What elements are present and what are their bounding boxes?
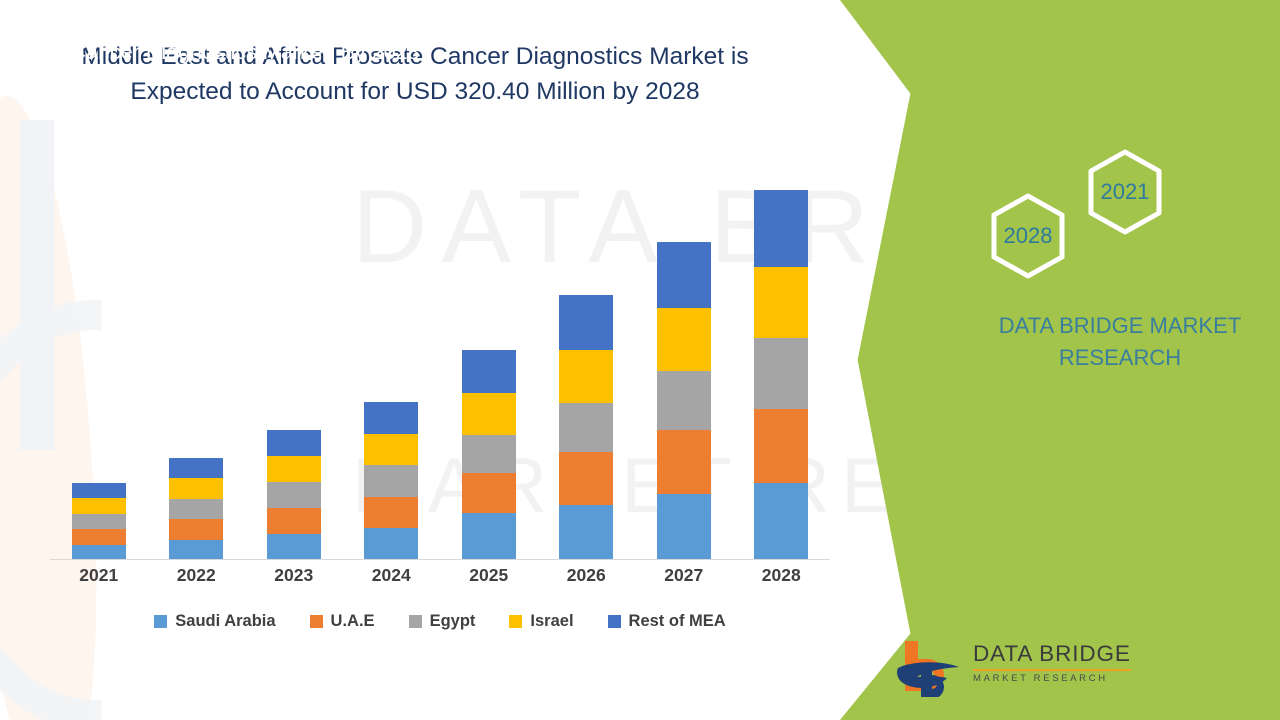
bar-segment xyxy=(754,483,808,560)
bar-segment xyxy=(462,350,516,393)
legend-item[interactable]: Israel xyxy=(509,612,573,631)
legend-label: Israel xyxy=(530,612,573,631)
bar-segment xyxy=(267,456,321,482)
bar-segment xyxy=(754,190,808,267)
bar-segment xyxy=(559,350,613,403)
brand-name-text: DATA BRIDGE MARKET RESEARCH xyxy=(965,310,1275,374)
legend-item[interactable]: Egypt xyxy=(409,612,476,631)
legend-swatch-icon xyxy=(608,615,621,628)
x-axis-label: 2022 xyxy=(154,565,238,586)
bar-segment xyxy=(267,482,321,508)
legend-item[interactable]: Saudi Arabia xyxy=(154,612,275,631)
stacked-bar xyxy=(169,458,223,560)
bar-segment xyxy=(559,295,613,350)
data-bridge-logo: DATA BRIDGE MARKET RESEARCH xyxy=(895,635,1125,697)
legend-label: Rest of MEA xyxy=(629,612,726,631)
legend-swatch-icon xyxy=(310,615,323,628)
bar-segment xyxy=(462,435,516,473)
bar-column xyxy=(349,175,433,560)
stacked-bar xyxy=(364,402,418,560)
stacked-bar xyxy=(72,483,126,560)
bar-segment xyxy=(754,338,808,409)
chart-panel: Middle East and Africa Prostate Cancer D… xyxy=(0,0,900,720)
bar-segment xyxy=(657,494,711,560)
hexagon-badge-start-year: 2021 xyxy=(1085,148,1165,236)
hexagon-end-year-label: 2028 xyxy=(1004,223,1053,249)
bar-column xyxy=(544,175,628,560)
chart-legend: Saudi ArabiaU.A.EEgyptIsraelRest of MEA xyxy=(50,612,830,631)
bar-segment xyxy=(364,465,418,497)
bar-segment xyxy=(169,540,223,560)
bar-segment xyxy=(754,267,808,338)
bar-segment xyxy=(364,497,418,529)
x-axis-label: 2027 xyxy=(642,565,726,586)
legend-swatch-icon xyxy=(409,615,422,628)
bar-column xyxy=(642,175,726,560)
bar-segment xyxy=(364,528,418,560)
hexagon-start-year-label: 2021 xyxy=(1101,179,1150,205)
x-axis-label: 2028 xyxy=(739,565,823,586)
bar-segment xyxy=(169,519,223,539)
stacked-bar xyxy=(462,350,516,560)
x-axis-label: 2025 xyxy=(447,565,531,586)
bar-segment xyxy=(72,529,126,544)
bar-segment xyxy=(559,505,613,560)
bar-segment xyxy=(364,434,418,466)
logo-title: DATA BRIDGE xyxy=(973,641,1133,667)
bar-segment xyxy=(267,508,321,534)
chart-plot-area xyxy=(50,170,830,560)
hexagon-badge-end-year: 2028 xyxy=(988,192,1068,280)
legend-item[interactable]: Rest of MEA xyxy=(608,612,726,631)
stacked-bar xyxy=(754,190,808,560)
hexagon-icon: 2021 xyxy=(1085,148,1165,236)
x-axis-labels: 20212022202320242025202620272028 xyxy=(50,565,830,586)
stacked-bar xyxy=(559,295,613,560)
legend-label: U.A.E xyxy=(331,612,375,631)
bar-column xyxy=(739,175,823,560)
bar-segment xyxy=(657,371,711,430)
bar-segment xyxy=(169,478,223,498)
stacked-bar xyxy=(657,242,711,560)
bar-column xyxy=(447,175,531,560)
bar-segment xyxy=(72,483,126,498)
legend-item[interactable]: U.A.E xyxy=(310,612,375,631)
bar-segment xyxy=(72,498,126,513)
legend-label: Egypt xyxy=(430,612,476,631)
bar-segment xyxy=(169,499,223,519)
bar-segment xyxy=(657,430,711,494)
data-bridge-logo-mark-icon xyxy=(895,635,965,697)
x-axis-label: 2024 xyxy=(349,565,433,586)
bar-column xyxy=(252,175,336,560)
bar-segment xyxy=(267,534,321,560)
bar-segment xyxy=(657,242,711,308)
bar-segment xyxy=(364,402,418,434)
bar-segment xyxy=(267,430,321,456)
bar-segment xyxy=(559,452,613,505)
legend-label: Saudi Arabia xyxy=(175,612,275,631)
bar-segment xyxy=(462,473,516,513)
x-axis-line xyxy=(50,559,830,560)
legend-swatch-icon xyxy=(509,615,522,628)
bar-segment xyxy=(462,513,516,560)
bar-segment xyxy=(169,458,223,478)
bar-column xyxy=(154,175,238,560)
bar-segment xyxy=(462,393,516,435)
logo-wordmark: DATA BRIDGE MARKET RESEARCH xyxy=(973,641,1133,684)
bar-column xyxy=(57,175,141,560)
bar-columns xyxy=(50,175,830,560)
bar-segment xyxy=(754,409,808,483)
x-axis-label: 2026 xyxy=(544,565,628,586)
logo-divider xyxy=(973,669,1131,671)
bar-segment xyxy=(559,403,613,452)
x-axis-label: 2021 xyxy=(57,565,141,586)
x-axis-label: 2023 xyxy=(252,565,336,586)
stacked-bar xyxy=(267,430,321,560)
legend-swatch-icon xyxy=(154,615,167,628)
hexagon-icon: 2028 xyxy=(988,192,1068,280)
bar-segment xyxy=(657,308,711,371)
logo-tagline: MARKET RESEARCH xyxy=(973,673,1133,684)
bar-segment xyxy=(72,514,126,529)
banner-title: Middle East and Africa Prostate Cancer D… xyxy=(70,6,420,68)
bar-segment xyxy=(72,545,126,560)
